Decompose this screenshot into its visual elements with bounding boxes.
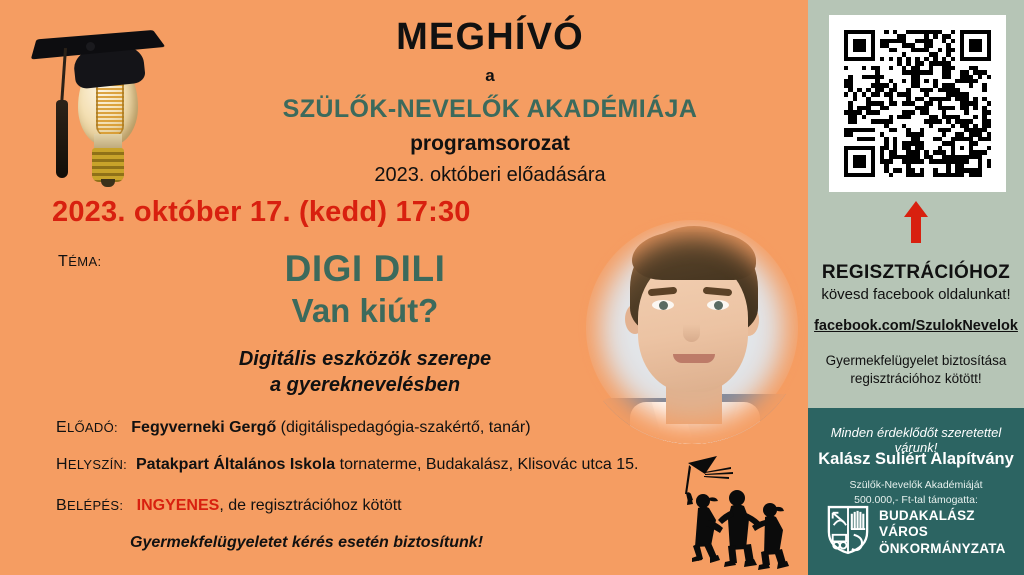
topic-title-line1: DIGI DILI: [160, 248, 570, 289]
topic-label-rest: ÉMA:: [68, 254, 101, 269]
venue-label-lead: H: [56, 456, 68, 473]
topic-block: DIGI DILI Van kiút? Digitális eszközök s…: [160, 248, 570, 398]
city-sponsor-name: BUDAKALÁSZ VÁROS ÖNKORMÁNYZATA: [879, 508, 1010, 557]
header-connector: a: [210, 66, 770, 86]
entry-label-lead: B: [56, 497, 67, 514]
venue-row: HELYSZÍN: Patakpart Általános Iskola tor…: [56, 456, 638, 474]
program-kind: programsorozat: [210, 132, 770, 156]
topic-subtitle-line2: a gyereknevelésben: [160, 372, 570, 398]
sidebar-childcare-line2: regisztrációhoz kötött!: [808, 370, 1024, 388]
portrait-vignette: [578, 212, 806, 444]
speaker-label-rest: LŐADÓ:: [67, 420, 118, 435]
poster-main-area: MEGHÍVÓ a SZÜLŐK-NEVELŐK AKADÉMIÁJA prog…: [0, 0, 808, 575]
registration-qr-code[interactable]: [829, 15, 1006, 192]
qr-code-modules: [844, 30, 991, 177]
registration-heading: REGISZTRÁCIÓHOZ: [808, 262, 1024, 284]
speaker-label: ELŐADÓ:: [56, 419, 118, 436]
speaker-row: ELŐADÓ: Fegyverneki Gergő (digitálispeda…: [56, 419, 531, 437]
sidebar-childcare-line1: Gyermekfelügyelet biztosítása: [808, 352, 1024, 370]
graduation-cap-lightbulb-icon: [34, 16, 164, 188]
graduation-cap-button-icon: [86, 42, 95, 51]
poster-header: MEGHÍVÓ a SZÜLŐK-NEVELŐK AKADÉMIÁJA prog…: [210, 18, 770, 187]
lightbulb-screw-base-icon: [92, 148, 124, 182]
entry-row: BELÉPÉS: INGYENES, de regisztrációhoz kö…: [56, 497, 402, 515]
budakalasz-coat-of-arms-icon: [826, 504, 870, 561]
sponsor-panel: Minden érdeklődőt szeretettel várunk! Ka…: [808, 408, 1024, 575]
page-title: MEGHÍVÓ: [210, 18, 770, 57]
city-sponsor-line1: BUDAKALÁSZ VÁROS: [879, 508, 975, 539]
speaker-label-lead: E: [56, 419, 67, 436]
venue-name: Patakpart Általános Iskola: [136, 456, 335, 473]
children-flying-kite-silhouette: [655, 448, 805, 570]
lightbulb-tip-icon: [101, 179, 115, 187]
entry-label-rest: ELÉPÉS:: [67, 498, 123, 513]
program-name: SZÜLŐK-NEVELŐK AKADÉMIÁJA: [210, 95, 770, 124]
childcare-note: Gyermekfelügyeletet kérés esetén biztosí…: [130, 534, 483, 552]
event-date: 2023. október 17. (kedd) 17:30: [52, 196, 471, 229]
city-sponsor-block: BUDAKALÁSZ VÁROS ÖNKORMÁNYZATA: [826, 504, 1010, 561]
support-note: Szülők-Nevelők Akadémiáját 500.000,- Ft-…: [808, 478, 1024, 507]
facebook-page-link[interactable]: facebook.com/SzulokNevelok: [808, 318, 1024, 334]
registration-subheading: kövesd facebook oldalunkat!: [808, 286, 1024, 303]
entry-free-badge: INGYENES: [137, 497, 220, 514]
topic-subtitle-line1: Digitális eszközök szerepe: [160, 346, 570, 372]
entry-condition: , de regisztrációhoz kötött: [219, 497, 401, 514]
graduation-cap-cord-icon: [60, 48, 67, 106]
speaker-portrait-photo: [578, 212, 806, 444]
invitation-poster: MEGHÍVÓ a SZÜLŐK-NEVELŐK AKADÉMIÁJA prog…: [0, 0, 1024, 575]
entry-label: BELÉPÉS:: [56, 497, 123, 514]
venue-address: tornaterme, Budakalász, Klisovác utca 15…: [340, 456, 639, 473]
graduation-cap-tassel-icon: [56, 100, 68, 178]
topic-subtitle: Digitális eszközök szerepe a gyereknevel…: [160, 346, 570, 398]
venue-label: HELYSZÍN:: [56, 456, 127, 473]
registration-sidebar: REGISZTRÁCIÓHOZ kövesd facebook oldalunk…: [808, 0, 1024, 575]
topic-title-line2: Van kiút?: [160, 291, 570, 331]
speaker-name: Fegyverneki Gergő: [131, 419, 276, 436]
city-sponsor-line2: ÖNKORMÁNYZATA: [879, 541, 1006, 556]
speaker-qualification: (digitálispedagógia-szakértő, tanár): [281, 419, 531, 436]
sidebar-childcare-note: Gyermekfelügyelet biztosítása regisztrác…: [808, 352, 1024, 388]
foundation-name: Kalász Suliért Alapítvány: [808, 450, 1024, 469]
topic-label-lead: T: [58, 253, 68, 270]
venue-label-rest: ELYSZÍN:: [68, 457, 127, 472]
header-subtitle: 2023. októberi előadására: [210, 164, 770, 187]
topic-label: TÉMA:: [58, 253, 102, 271]
support-note-line1: Szülők-Nevelők Akadémiáját: [808, 478, 1024, 493]
